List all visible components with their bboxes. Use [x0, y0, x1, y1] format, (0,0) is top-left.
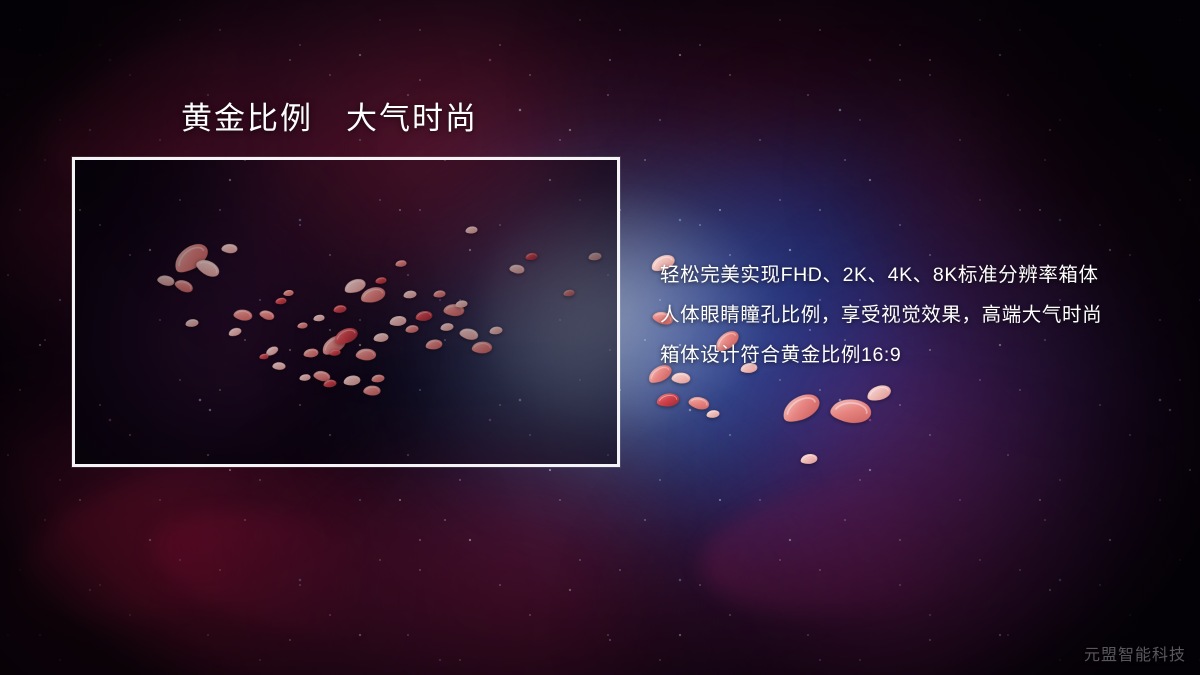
framed-nebula-image [72, 157, 620, 467]
page-title: 黄金比例 大气时尚 [181, 100, 478, 139]
watermark: 元盟智能科技 [1084, 641, 1186, 665]
body-line-1: 轻松完美实现FHD、2K、4K、8K标准分辨率箱体 [660, 255, 1180, 295]
body-line-3: 箱体设计符合黄金比例16:9 [660, 335, 1180, 375]
body-line-2: 人体眼睛瞳孔比例，享受视觉效果，高端大气时尚 [660, 295, 1180, 335]
presentation-slide: 黄金比例 大气时尚 轻松完美实现FHD、2K、4K、8K标准分辨率箱体 人体眼睛… [0, 0, 1200, 675]
body-text-block: 轻松完美实现FHD、2K、4K、8K标准分辨率箱体 人体眼睛瞳孔比例，享受视觉效… [660, 255, 1180, 375]
